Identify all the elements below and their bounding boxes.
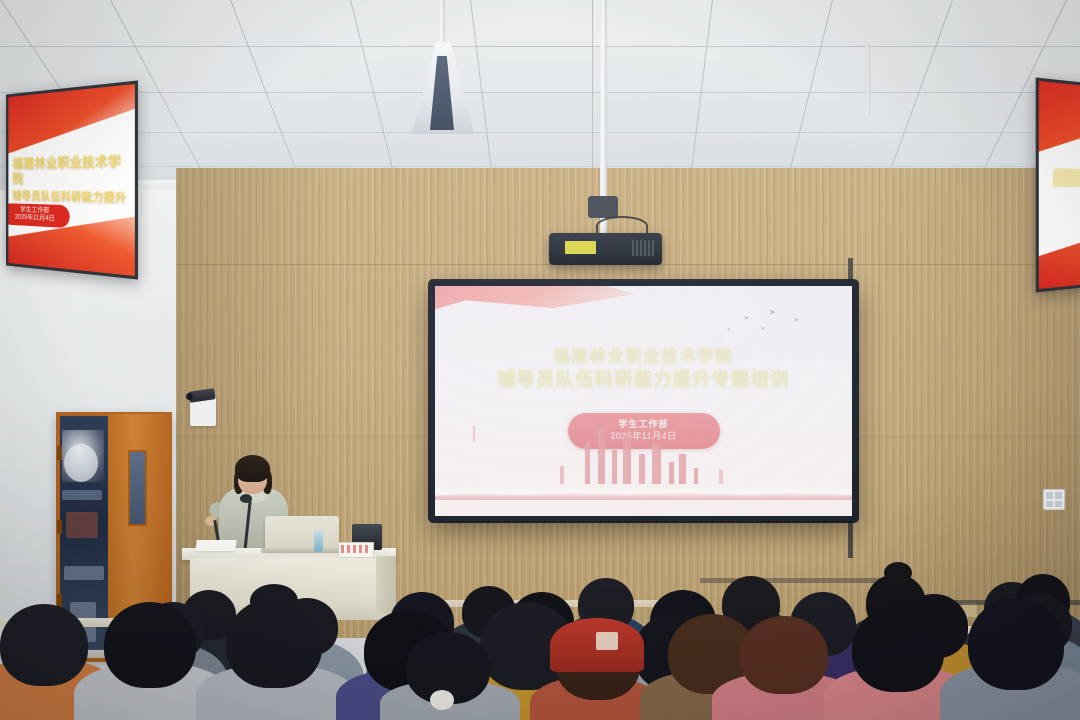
cap-logo (596, 632, 618, 650)
right-screen-title-glow (1053, 169, 1080, 187)
slide-clouds (435, 489, 852, 497)
lecture-hall-photo: 福建林业职业技术学院 辅导员队伍科研能力提升专题培训 学生工作部 2025年11… (0, 0, 1080, 720)
door-window (128, 450, 147, 526)
list-item (852, 606, 944, 692)
left-screen-title-line1: 福建林业职业技术学院 (13, 153, 122, 186)
left-screen-badge-line2: 2025年11月4日 (15, 214, 55, 224)
projector-label (565, 241, 596, 254)
slide-title: 福建林业职业技术学院 辅导员队伍科研能力提升专题培训 (435, 346, 852, 392)
microphone-head (240, 494, 252, 503)
presentation-slide: ➤ ➤ ➤ ➤ ➤ 福建林业职业技术学院 辅导员队伍科研能力提升专题培训 学生工… (435, 286, 852, 516)
list-item (968, 598, 1064, 690)
list-item (740, 616, 828, 694)
ceiling-rod (866, 44, 870, 116)
wall-switch-plate[interactable] (1043, 489, 1065, 510)
slide-title-line2: 辅导员队伍科研能力提升专题培训 (435, 367, 852, 391)
speaker-hair (235, 455, 270, 482)
led-display-right (1036, 77, 1080, 292)
main-led-display[interactable]: ➤ ➤ ➤ ➤ ➤ 福建林业职业技术学院 辅导员队伍科研能力提升专题培训 学生工… (430, 281, 857, 521)
right-screen-red-bottom (1039, 211, 1080, 289)
doorway-glare (62, 430, 104, 482)
hair-tie (430, 690, 454, 710)
projector-mount (588, 196, 618, 218)
ceiling (0, 0, 1080, 196)
list-item (0, 604, 88, 686)
left-screen-red-top (8, 84, 135, 153)
slide-title-line1: 福建林业职业技术学院 (435, 346, 852, 368)
camera-lens (186, 393, 193, 400)
list-item (104, 602, 196, 688)
right-screen-red-top (1039, 81, 1080, 155)
led-display-left: 福建林业职业技术学院 辅导员队伍科研能力提升专题培训 学生工作部 2025年11… (6, 80, 138, 279)
slide-accent-mark (473, 426, 475, 442)
projector-vent (632, 240, 654, 256)
slide-skyline-graphic (435, 440, 852, 500)
slide-watercolor-wash (435, 286, 635, 355)
slide-badge-org: 学生工作部 (618, 419, 668, 431)
audience (0, 540, 1080, 720)
left-screen-badge: 学生工作部 2025年11月4日 (6, 203, 69, 228)
